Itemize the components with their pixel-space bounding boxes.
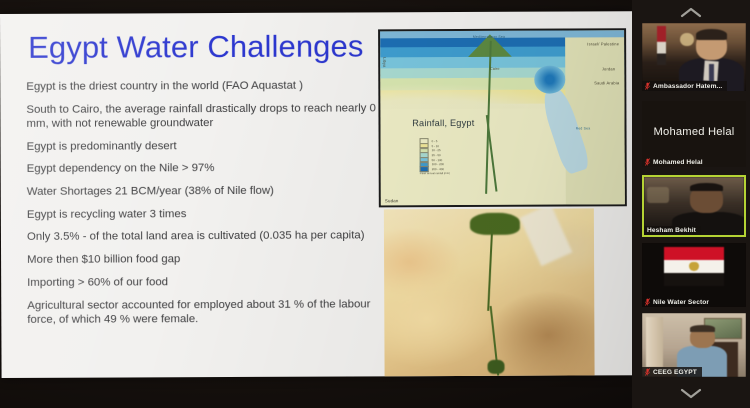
bullet-item: Water Shortages 21 BCM/year (38% of Nile… (27, 183, 377, 199)
map-label-saudi-arabia: Saudi Arabia (594, 80, 619, 85)
satellite-nile-river (487, 230, 493, 311)
mic-muted-icon (645, 82, 650, 90)
participant-name: Ambassador Hatem... (653, 83, 722, 90)
participant-tile[interactable]: CEEG EGYPT (642, 313, 746, 377)
sinai-rainfall-maximum (534, 65, 566, 93)
participant-name-bar: Mohamed Helal (642, 157, 708, 167)
bullet-item: Importing > 60% of our food (27, 274, 377, 290)
participant-sidebar[interactable]: Ambassador Hatem... Mohamed Helal Mohame… (632, 0, 750, 408)
person-hair (690, 183, 723, 191)
rainfall-map-canvas: Mediterranean Sea Libya Sudan Israel/ Pa… (380, 30, 625, 205)
map-label-sudan: Sudan (385, 198, 399, 203)
window-curtain (646, 317, 663, 367)
flag-stripe-red (664, 247, 724, 260)
legend-label: 5 - 10 (432, 144, 439, 148)
bullet-item: Egypt is recycling water 3 times (27, 206, 377, 222)
presentation-slide[interactable]: Egypt Water Challenges Egypt is the drie… (0, 11, 634, 378)
slide-bullet-list: Egypt is the driest country in the world… (26, 78, 377, 335)
participant-tile[interactable]: Nile Water Sector (642, 243, 746, 307)
participant-name-bar: Ambassador Hatem... (642, 81, 727, 91)
egypt-satellite-image: 1 (384, 208, 595, 378)
mic-muted-icon (645, 158, 650, 166)
rainfall-legend: 0 - 5 5 - 10 10 - 25 25 - 50 50 - 100 (420, 139, 450, 176)
map-title: Rainfall, Egypt (412, 118, 474, 128)
satellite-red-sea (520, 208, 572, 266)
person-hair (696, 29, 727, 40)
bullet-item: South to Cairo, the average rainfall dra… (26, 101, 376, 131)
map-label-cairo: Cairo (490, 67, 500, 71)
legend-label: 25 - 50 (432, 153, 441, 157)
legend-entry: 200 - 400 (420, 167, 450, 171)
bullet-item: Egypt dependency on the Nile > 97% (27, 161, 377, 177)
satellite-nile-delta (470, 212, 520, 235)
rainfall-map-figure: Mediterranean Sea Libya Sudan Israel/ Pa… (378, 28, 627, 207)
participant-name: CEEG EGYPT (653, 369, 697, 376)
bullet-item: Egypt is the driest country in the world… (26, 78, 376, 94)
slide-title: Egypt Water Challenges (28, 28, 363, 65)
bullet-item: More then $10 billion food gap (27, 251, 377, 267)
background-window (647, 187, 669, 202)
map-label-mediterranean: Mediterranean Sea (473, 35, 505, 39)
map-label-red-sea: Red Sea (576, 126, 591, 130)
legend-swatch (420, 166, 429, 171)
legend-label: 50 - 100 (432, 158, 443, 162)
map-label-libya: Libya (382, 57, 386, 67)
person-tie (709, 64, 714, 83)
mic-muted-icon (645, 368, 650, 376)
bullet-item: Agricultural sector accounted for employ… (27, 297, 377, 327)
participant-name-bar: Nile Water Sector (642, 297, 714, 307)
flag-stripe-black (664, 273, 724, 286)
participant-name: Hesham Bekhit (647, 227, 696, 234)
participant-display-name: Mohamed Helal (642, 126, 746, 138)
legend-caption: mean annual rainfall (mm) (420, 172, 450, 175)
participant-name-bar: Hesham Bekhit (644, 226, 701, 235)
legend-label: 200 - 400 (432, 167, 444, 171)
screenshot-photo-of-screen: Egypt Water Challenges Egypt is the drie… (0, 0, 750, 408)
participant-name: Nile Water Sector (653, 299, 709, 306)
satellite-lake-nasser (487, 360, 504, 374)
map-label-israel-palestine: Israel/ Palestine (587, 41, 619, 46)
legend-label: 100 - 200 (432, 162, 444, 166)
egypt-flag-backdrop (657, 26, 666, 65)
participant-name: Mohamed Helal (653, 159, 703, 166)
person-hair (690, 325, 715, 331)
participant-tile[interactable]: Ambassador Hatem... (642, 23, 746, 91)
bullet-item: Only 3.5% - of the total land area is cu… (27, 229, 377, 245)
legend-label: 0 - 5 (432, 139, 438, 143)
bullet-item: Egypt is predominantly desert (27, 138, 377, 154)
chevron-up-icon[interactable] (680, 7, 702, 18)
participant-tile-active-speaker[interactable]: Hesham Bekhit (642, 175, 746, 237)
mic-muted-icon (645, 298, 650, 306)
legend-label: 10 - 25 (432, 148, 441, 152)
desk-lamp (680, 33, 694, 47)
egypt-flag-icon (664, 247, 724, 287)
map-label-jordan: Jordan (602, 66, 615, 71)
participant-name-bar: CEEG EGYPT (642, 367, 702, 377)
participant-tile[interactable]: Mohamed Helal Mohamed Helal (642, 101, 746, 167)
chevron-down-icon[interactable] (680, 388, 702, 399)
